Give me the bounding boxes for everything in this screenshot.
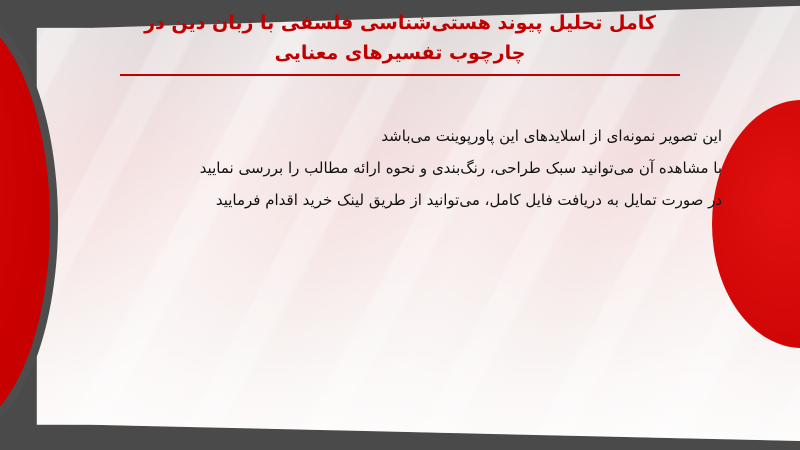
slide-title: کامل تحلیل پیوند هستی‌شناسی فلسفی با زبا…: [0, 8, 800, 76]
slide-title-line-1: کامل تحلیل پیوند هستی‌شناسی فلسفی با زبا…: [0, 8, 800, 38]
body-text-line-1: این تصویر نمونه‌ای از اسلایدهای این پاور…: [102, 120, 722, 152]
slide-frame: کامل تحلیل پیوند هستی‌شناسی فلسفی با زبا…: [0, 0, 800, 450]
body-text-line-2: با مشاهده آن می‌توانید سبک طراحی، رنگ‌بن…: [102, 152, 722, 184]
slide-body-text: این تصویر نمونه‌ای از اسلایدهای این پاور…: [102, 120, 722, 216]
slide-title-line-2: چارچوب تفسیرهای معنایی: [0, 38, 800, 68]
body-text-line-3: در صورت تمایل به دریافت فایل کامل، می‌تو…: [102, 184, 722, 216]
title-divider-rule: [120, 74, 680, 76]
